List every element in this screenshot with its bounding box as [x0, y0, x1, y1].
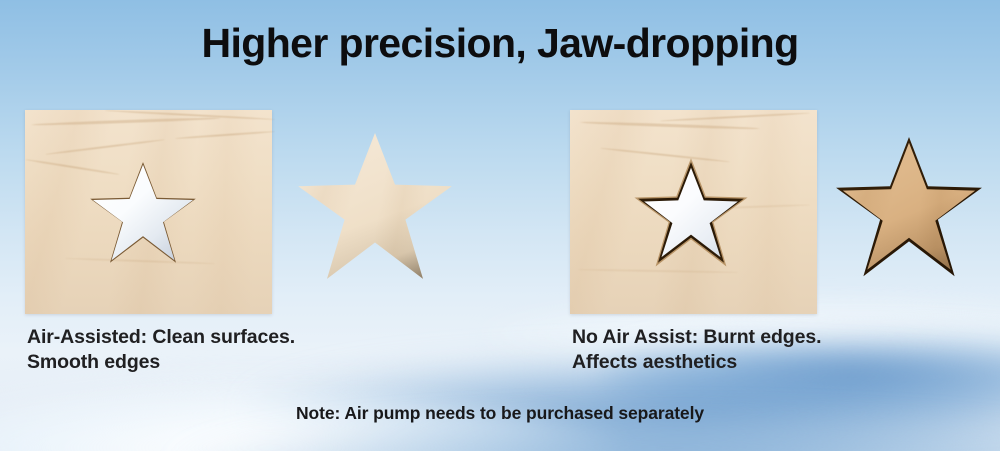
air-assist-comparison-banner: Higher precision, Jaw-dropping Air-Assis…: [0, 0, 1000, 451]
star-edge-shadow: [833, 137, 985, 282]
wood-grain-line: [580, 121, 760, 130]
caption-air-assisted: Air-Assisted: Clean surfaces. Smooth edg…: [27, 325, 295, 375]
wood-panel-no-air-assist: [570, 110, 817, 314]
wood-grain-line: [31, 117, 221, 127]
wood-grain-line: [660, 112, 810, 122]
footnote: Note: Air pump needs to be purchased sep…: [0, 403, 1000, 424]
wood-panel-air-assisted: [25, 110, 272, 314]
star-cutout-clean: [88, 162, 198, 267]
caption-no-air-assist: No Air Assist: Burnt edges. Affects aest…: [572, 325, 821, 375]
wood-grain-line: [578, 269, 738, 274]
wood-grain-line: [175, 131, 275, 140]
cutout-interior: [636, 162, 746, 267]
wood-grain-line: [600, 147, 729, 163]
star-edge-shadow: [295, 133, 455, 285]
star-cutout-burnt: [636, 162, 746, 267]
wood-grain-line: [105, 110, 275, 121]
cut-star-piece-burnt: [833, 137, 985, 282]
wood-grain-line: [45, 139, 164, 156]
page-title: Higher precision, Jaw-dropping: [0, 20, 1000, 67]
cut-star-piece-clean: [295, 133, 455, 285]
wave-band-bottom: [180, 424, 1000, 451]
cutout-interior: [88, 162, 198, 267]
